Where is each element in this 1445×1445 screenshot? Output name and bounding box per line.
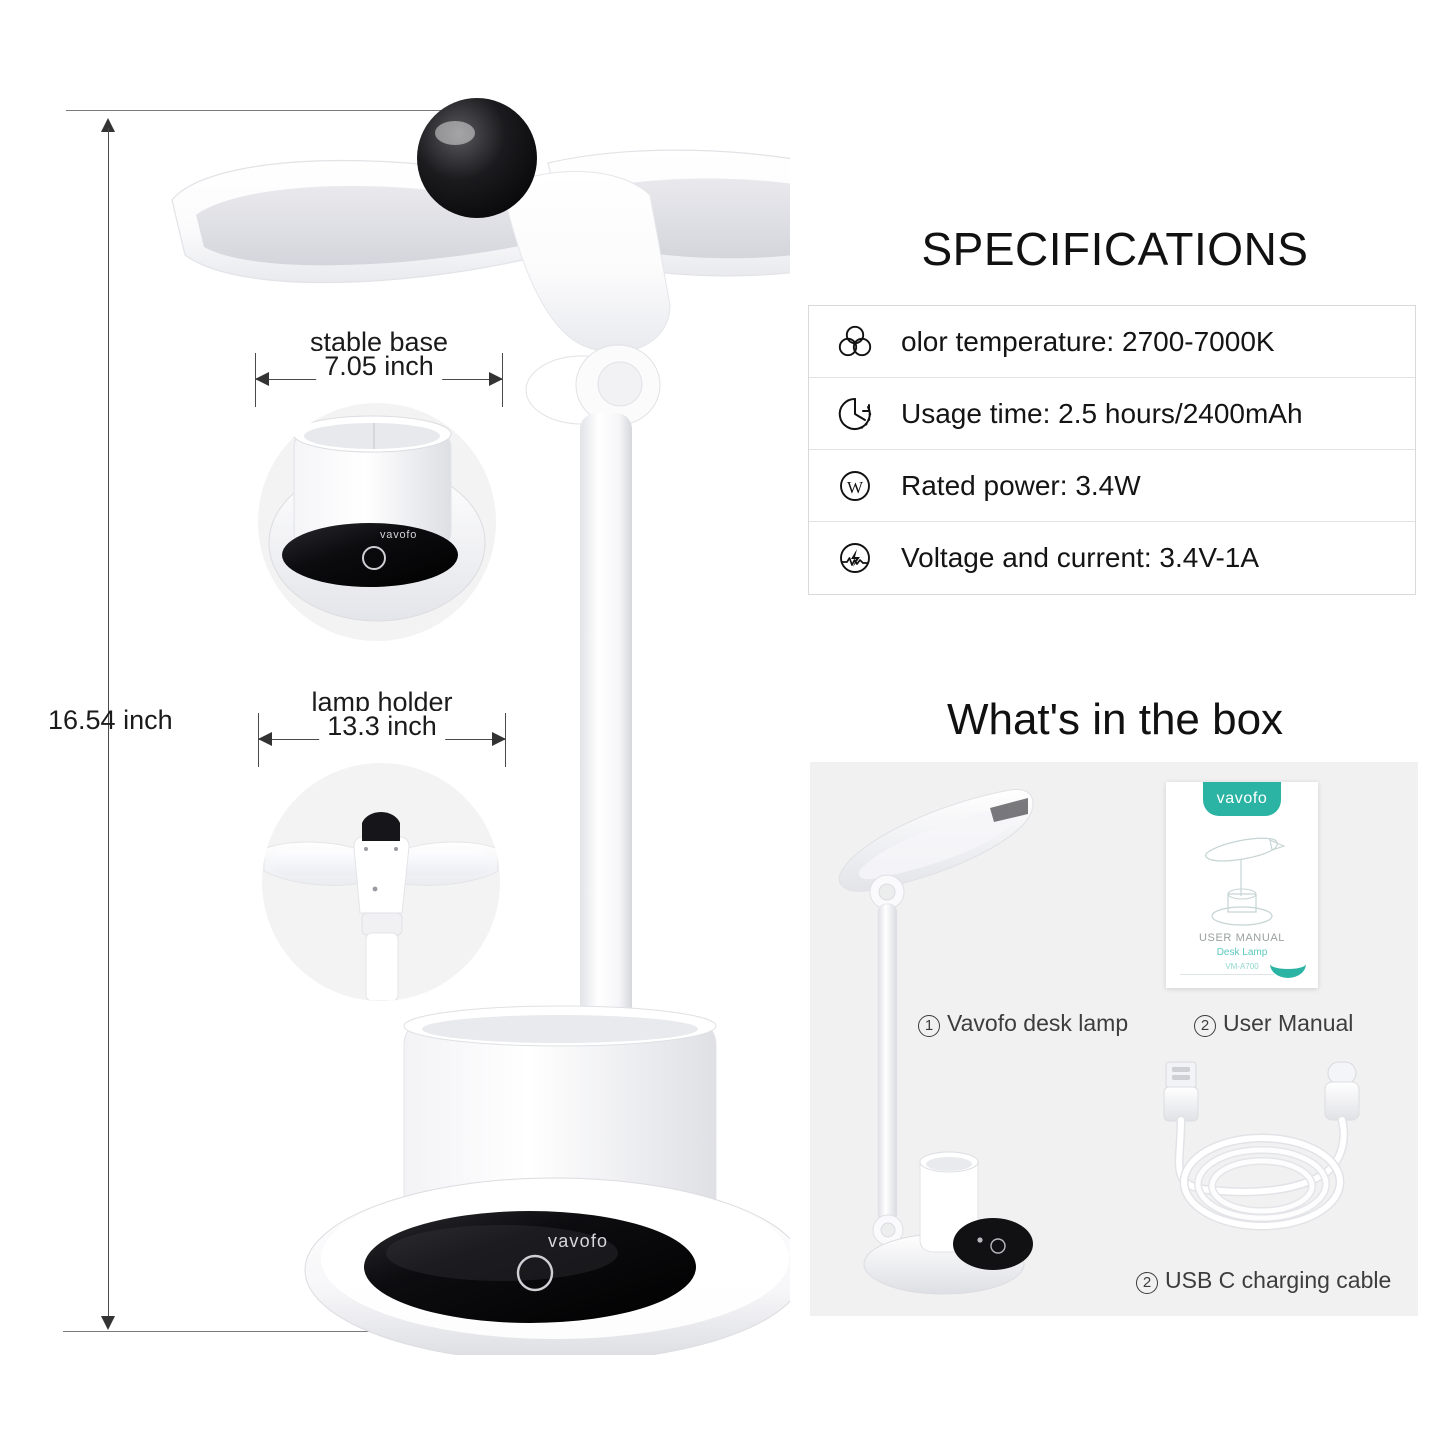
rated-power-watt-icon: W	[809, 466, 901, 506]
box-item-label-cable: USB C charging cable	[1165, 1267, 1391, 1293]
box-item-caption-manual: 2User Manual	[1194, 1010, 1353, 1037]
lamp-holder-arrow-right	[492, 732, 506, 746]
spec-text-color-temperature: olor temperature: 2700-7000K	[901, 326, 1275, 358]
spec-text-rated-power: Rated power: 3.4W	[901, 470, 1141, 502]
svg-text:vavofo: vavofo	[380, 529, 417, 541]
box-item-number-3: 2	[1136, 1272, 1158, 1294]
spec-row-color-temperature: olor temperature: 2700-7000K	[809, 306, 1415, 378]
box-item-caption-lamp: 1Vavofo desk lamp	[918, 1010, 1128, 1037]
stable-base-inset: vavofo	[258, 403, 496, 641]
manual-lamp-line-art	[1192, 830, 1292, 928]
height-arrow-down	[101, 1316, 115, 1330]
spec-text-voltage-current: Voltage and current: 3.4V-1A	[901, 542, 1259, 574]
lamp-holder-arrow-left	[258, 732, 272, 746]
box-item-number-1: 1	[918, 1015, 940, 1037]
box-item-label-manual: User Manual	[1223, 1010, 1353, 1036]
box-item-label-lamp: Vavofo desk lamp	[947, 1010, 1128, 1036]
usb-c-cable-illustration	[1128, 1056, 1400, 1252]
svg-text:W: W	[847, 478, 864, 497]
specifications-table: olor temperature: 2700-7000K Usage time:…	[808, 305, 1416, 595]
spec-row-voltage-current: Voltage and current: 3.4V-1A	[809, 522, 1415, 594]
manual-bottom-rule	[1180, 974, 1274, 975]
lamp-holder-inset	[262, 763, 500, 1001]
user-manual-cover: vavofo USER MANUAL Desk Lamp VM-A700	[1166, 782, 1318, 988]
infographic-canvas: 16.54 inch	[0, 0, 1445, 1445]
box-item-lamp-illustration	[832, 778, 1072, 1298]
spec-text-usage-time: Usage time: 2.5 hours/2400mAh	[901, 398, 1303, 430]
stable-base-value: 7.05 inch	[316, 351, 442, 382]
voltage-current-icon	[809, 538, 901, 578]
usage-time-clock-icon	[809, 394, 901, 434]
stable-base-arrow-right	[489, 372, 503, 386]
box-item-number-2: 2	[1194, 1015, 1216, 1037]
holder-inset-art	[262, 763, 500, 1001]
spec-row-usage-time: Usage time: 2.5 hours/2400mAh	[809, 378, 1415, 450]
main-lamp-illustration: vavofo	[150, 95, 790, 1355]
box-item-caption-cable: 2USB C charging cable	[1136, 1267, 1391, 1294]
whats-in-the-box-panel: vavofo USER MANUAL Desk Lamp VM-A700 1Va…	[810, 762, 1418, 1316]
color-temperature-icon	[809, 322, 901, 362]
manual-title-line: USER MANUAL	[1166, 932, 1318, 944]
manual-swoosh-accent	[1270, 964, 1306, 978]
manual-brand-badge: vavofo	[1203, 782, 1281, 816]
lamp-holder-value: 13.3 inch	[319, 711, 445, 742]
manual-subtitle-line: Desk Lamp	[1166, 947, 1318, 958]
spec-row-rated-power: W Rated power: 3.4W	[809, 450, 1415, 522]
stable-base-arrow-left	[255, 372, 269, 386]
whats-in-the-box-title: What's in the box	[810, 695, 1420, 745]
specifications-title: SPECIFICATIONS	[810, 222, 1420, 276]
base-inset-art: vavofo	[258, 403, 496, 641]
svg-text:vavofo: vavofo	[548, 1231, 608, 1251]
